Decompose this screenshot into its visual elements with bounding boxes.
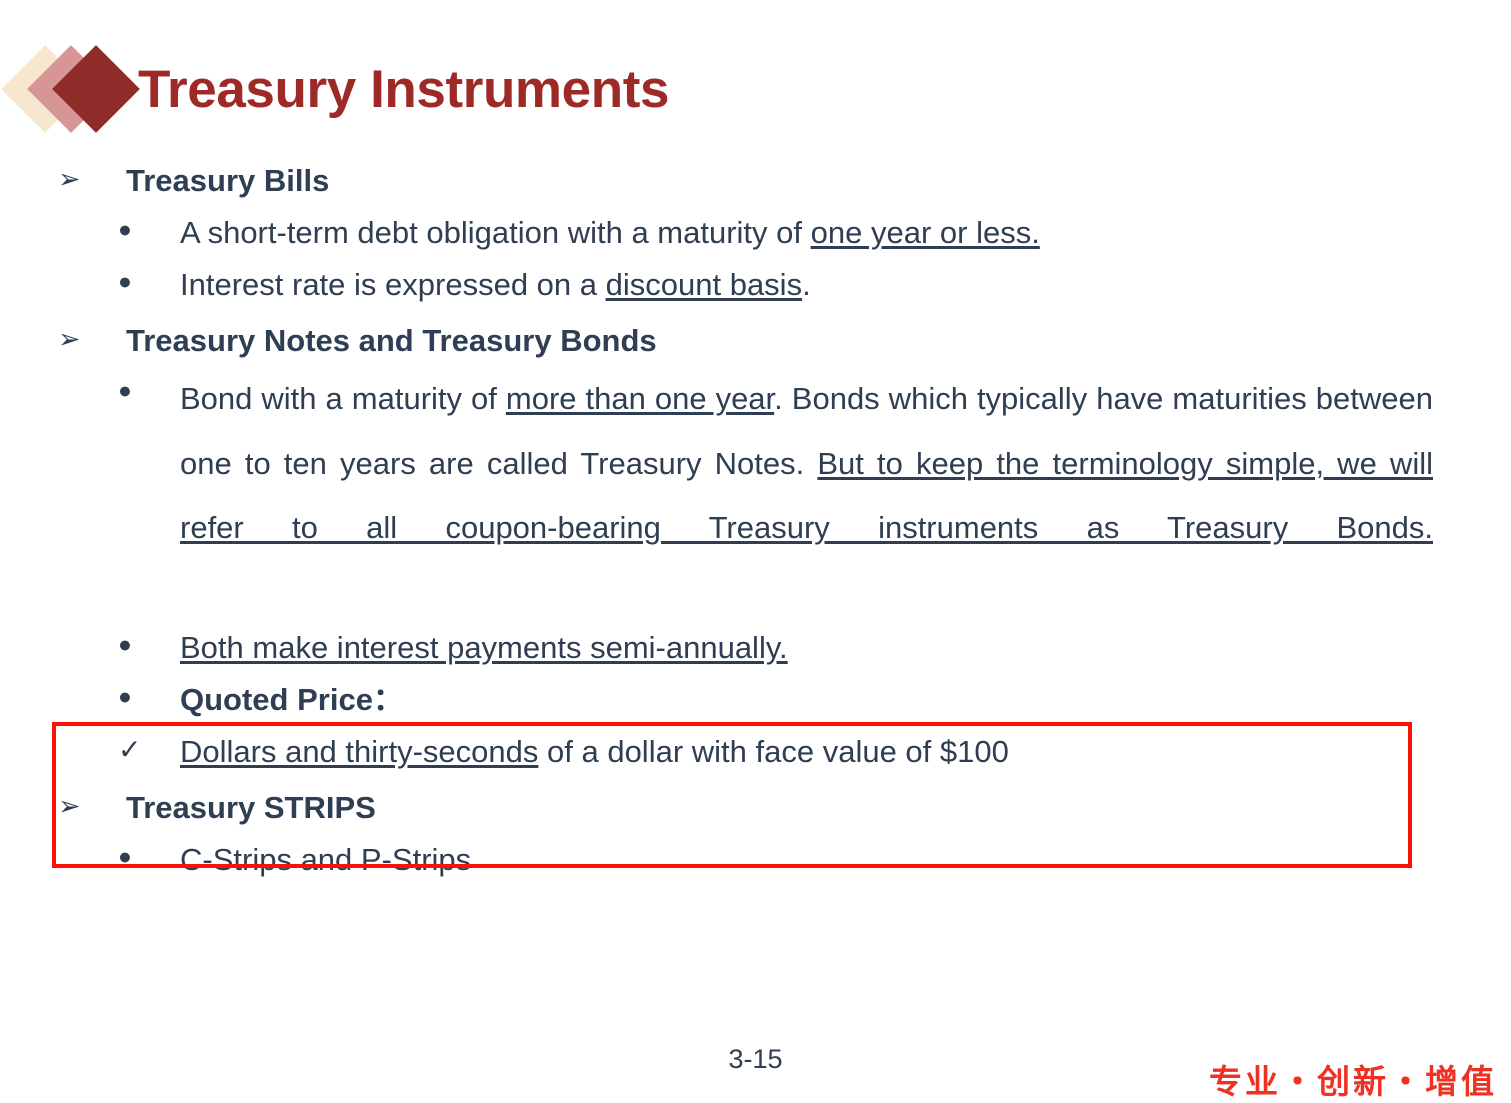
list-item-bills-2: ● Interest rate is expressed on a discou… xyxy=(0,264,1511,306)
arrow-bullet-icon: ➢ xyxy=(58,787,126,826)
list-item-text: Dollars and thirty-seconds of a dollar w… xyxy=(180,731,1009,773)
logo-diamonds xyxy=(8,35,126,143)
list-item-strips-1: ● C-Strips and P-Strips xyxy=(0,839,1511,881)
disc-bullet-icon: ● xyxy=(118,367,180,415)
page-title: Treasury Instruments xyxy=(138,63,669,116)
disc-bullet-icon: ● xyxy=(118,839,180,874)
arrow-bullet-icon: ➢ xyxy=(58,160,126,199)
list-item-bills-1: ● A short-term debt obligation with a ma… xyxy=(0,212,1511,254)
list-item-semi-annual: ● Both make interest payments semi-annua… xyxy=(0,627,1511,669)
text-plain-tail: of a dollar with face value of $100 xyxy=(538,734,1008,769)
disc-bullet-icon: ● xyxy=(118,627,180,662)
list-item-text: C-Strips and P-Strips xyxy=(180,839,1511,881)
list-item-text: Interest rate is expressed on a discount… xyxy=(180,264,1511,306)
paragraph-text: Bond with a maturity of more than one ye… xyxy=(180,367,1433,625)
brand-tagline: 专业・创新・增值 xyxy=(1209,1055,1497,1103)
section-heading-treasury-notes-bonds: ➢ Treasury Notes and Treasury Bonds xyxy=(0,320,1511,362)
slide-body: ➢ Treasury Bills ● A short-term debt obl… xyxy=(0,160,1511,884)
section-heading-treasury-bills: ➢ Treasury Bills xyxy=(0,160,1511,202)
slide-title-row: Treasury Instruments xyxy=(0,34,669,144)
text-plain: A short-term debt obligation with a matu… xyxy=(180,215,811,250)
arrow-bullet-icon: ➢ xyxy=(58,320,126,359)
text-plain: Interest rate is expressed on a xyxy=(180,267,606,302)
check-bullet-icon: ✓ xyxy=(118,731,180,769)
heading-text: Treasury Notes and Treasury Bonds xyxy=(126,320,657,362)
heading-text: Treasury Bills xyxy=(126,160,329,202)
text-plain: Bond with a maturity of xyxy=(180,381,506,416)
list-item-quoted-price: ● Quoted Price： xyxy=(0,679,1511,721)
list-item-text: A short-term debt obligation with a matu… xyxy=(180,212,1511,254)
section-heading-treasury-strips: ➢ Treasury STRIPS xyxy=(0,787,1511,829)
text-underlined: more than one year xyxy=(506,381,774,416)
list-item-quoted-price-detail: ✓ Dollars and thirty-seconds of a dollar… xyxy=(0,731,1511,773)
text-underlined: Dollars and thirty-seconds xyxy=(180,734,538,769)
list-item-text: Both make interest payments semi-annuall… xyxy=(180,627,1511,669)
text-underlined: discount basis xyxy=(606,267,802,302)
quoted-price-label: Quoted Price： xyxy=(180,679,1511,721)
list-item-bonds-paragraph: ● Bond with a maturity of more than one … xyxy=(0,367,1511,625)
heading-text: Treasury STRIPS xyxy=(126,787,376,829)
disc-bullet-icon: ● xyxy=(118,679,180,714)
disc-bullet-icon: ● xyxy=(118,212,180,247)
text-underlined: one year or less. xyxy=(811,215,1040,250)
disc-bullet-icon: ● xyxy=(118,264,180,299)
text-plain-tail: . xyxy=(802,267,811,302)
